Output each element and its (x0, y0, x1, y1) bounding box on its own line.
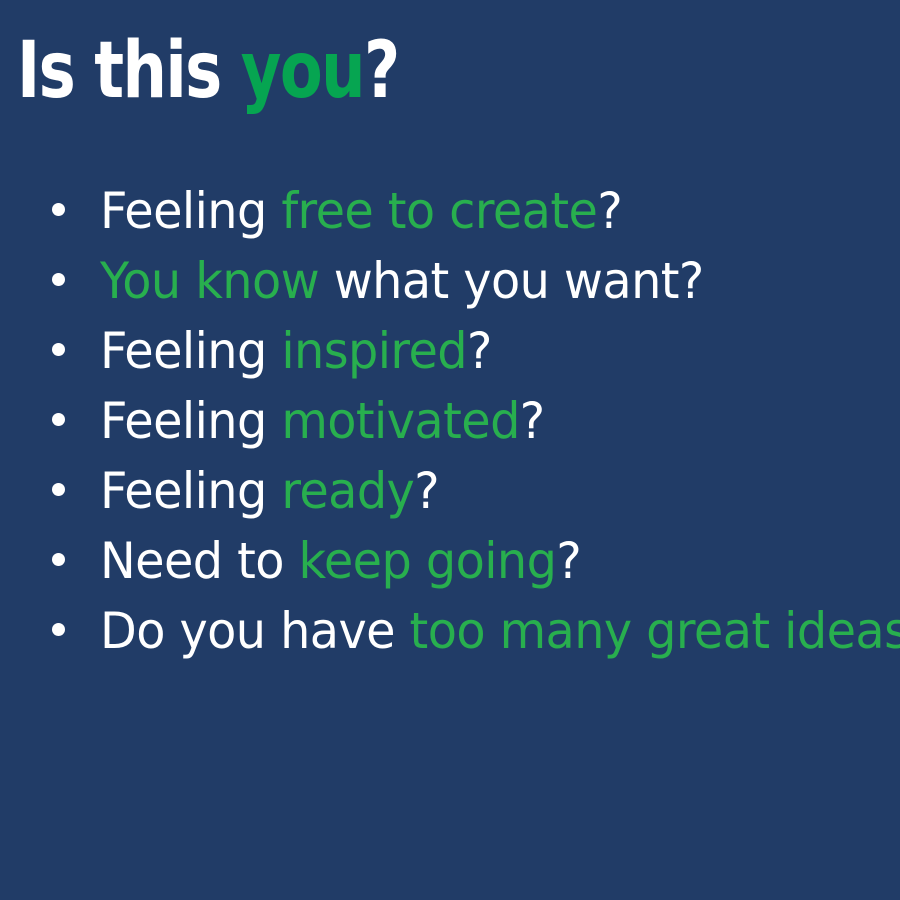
bullet-dot-icon (52, 553, 65, 566)
text-run-0: Feeling (100, 322, 281, 380)
text-run-2: ? (467, 322, 492, 380)
list-item: You know what you want? (52, 253, 882, 323)
list-item: Feeling ready? (52, 463, 882, 533)
list-item: Do you have too many great ideas? (52, 603, 882, 673)
list-item-label: Feeling motivated? (100, 393, 545, 449)
text-run-1: you (241, 26, 364, 116)
text-run-0: Feeling (100, 182, 281, 240)
bullet-dot-icon (52, 413, 65, 426)
text-run-2: ? (414, 462, 439, 520)
page-title: Is this you? (17, 28, 399, 114)
text-run-0: Feeling (100, 392, 281, 450)
text-run-1: free to create (281, 182, 597, 240)
text-run-0: Do you have (100, 602, 410, 660)
bullet-dot-icon (52, 483, 65, 496)
text-run-0: Feeling (100, 462, 281, 520)
text-run-2: ? (556, 532, 581, 590)
text-run-1: motivated (281, 392, 519, 450)
bullet-dot-icon (52, 623, 65, 636)
list-item: Feeling free to create? (52, 183, 882, 253)
list-item: Need to keep going? (52, 533, 882, 603)
list-item: Feeling inspired? (52, 323, 882, 393)
text-run-1: inspired (281, 322, 467, 380)
list-item-label: Feeling ready? (100, 463, 439, 519)
list-item-label: Need to keep going? (100, 533, 581, 589)
text-run-0: Is this (17, 26, 241, 116)
list-item-label: You know what you want? (100, 253, 704, 309)
list-item-label: Do you have too many great ideas? (100, 603, 900, 659)
bullet-list: Feeling free to create?You know what you… (52, 183, 882, 673)
text-run-2: ? (364, 26, 399, 116)
text-run-0: You know (100, 252, 319, 310)
text-run-2: ? (597, 182, 622, 240)
list-item: Feeling motivated? (52, 393, 882, 463)
bullet-dot-icon (52, 273, 65, 286)
text-run-1: ready (281, 462, 414, 520)
text-run-1: keep going (299, 532, 557, 590)
list-item-label: Feeling inspired? (100, 323, 492, 379)
text-run-0: Need to (100, 532, 299, 590)
bullet-dot-icon (52, 203, 65, 216)
text-run-2: ? (520, 392, 545, 450)
list-item-label: Feeling free to create? (100, 183, 622, 239)
text-run-1: too many great ideas (410, 602, 900, 660)
text-run-1: what you want? (319, 252, 704, 310)
bullet-dot-icon (52, 343, 65, 356)
slide-canvas: Is this you? Feeling free to create?You … (0, 0, 900, 900)
